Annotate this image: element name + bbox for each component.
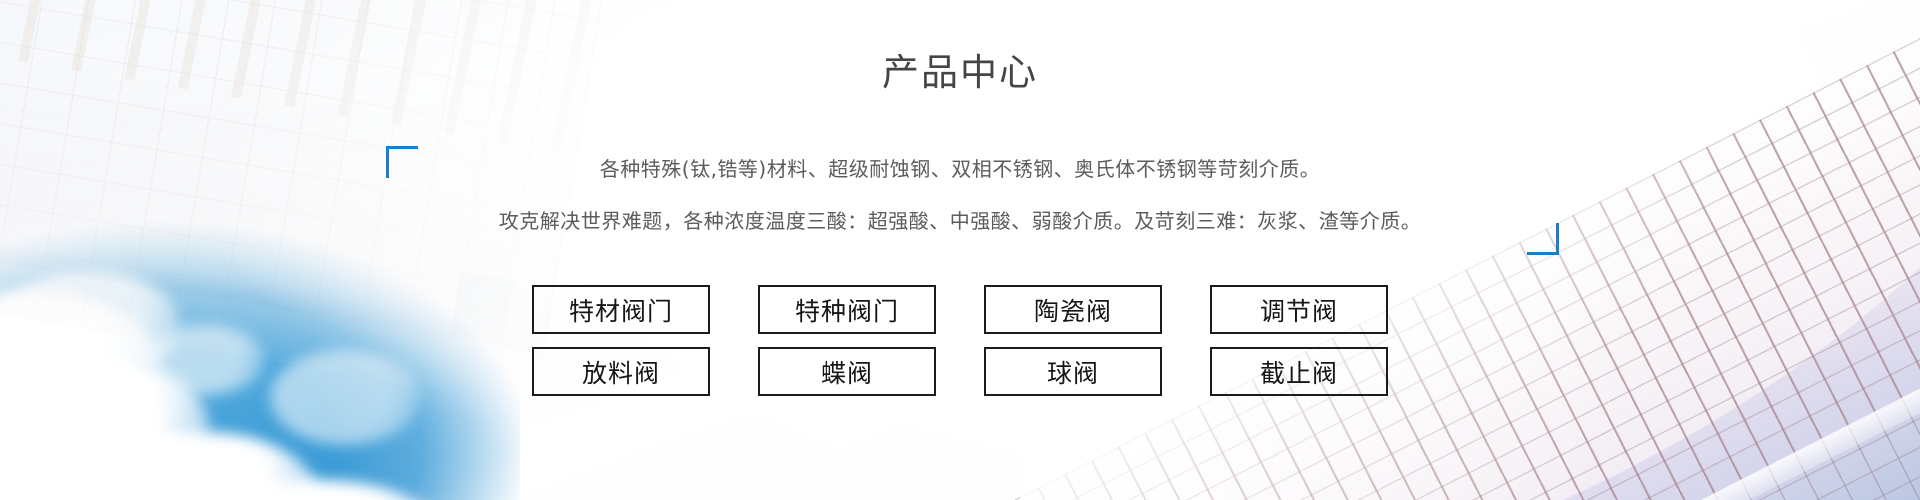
category-tag-grid: 特材阀门 特种阀门 陶瓷阀 调节阀 放料阀 蝶阀 球阀 截止阀 (0, 285, 1920, 396)
category-tag-qiu-fa[interactable]: 球阀 (984, 347, 1162, 396)
category-tag-tiaojie-fa[interactable]: 调节阀 (1210, 285, 1388, 334)
banner-content: 产品中心 各种特殊(钛,锆等)材料、超级耐蚀钢、双相不锈钢、奥氏体不锈钢等苛刻介… (0, 0, 1920, 500)
corner-bracket-top-left-icon (386, 146, 418, 178)
category-tag-row-1: 特材阀门 特种阀门 陶瓷阀 调节阀 (532, 285, 1388, 334)
category-tag-taoci-fa[interactable]: 陶瓷阀 (984, 285, 1162, 334)
description-block: 各种特殊(钛,锆等)材料、超级耐蚀钢、双相不锈钢、奥氏体不锈钢等苛刻介质。 攻克… (0, 143, 1920, 247)
description-line-1: 各种特殊(钛,锆等)材料、超级耐蚀钢、双相不锈钢、奥氏体不锈钢等苛刻介质。 (0, 143, 1920, 195)
description-line-2: 攻克解决世界难题，各种浓度温度三酸：超强酸、中强酸、弱酸介质。及苛刻三难：灰浆、… (0, 195, 1920, 247)
category-tag-row-2: 放料阀 蝶阀 球阀 截止阀 (532, 347, 1388, 396)
category-tag-die-fa[interactable]: 蝶阀 (758, 347, 936, 396)
category-tag-fangliao-fa[interactable]: 放料阀 (532, 347, 710, 396)
category-tag-jiezhi-fa[interactable]: 截止阀 (1210, 347, 1388, 396)
category-tag-tecai-famen[interactable]: 特材阀门 (532, 285, 710, 334)
category-tag-tezhong-famen[interactable]: 特种阀门 (758, 285, 936, 334)
page-title: 产品中心 (0, 50, 1920, 96)
corner-bracket-bottom-right-icon (1527, 223, 1559, 255)
product-center-banner: 产品中心 各种特殊(钛,锆等)材料、超级耐蚀钢、双相不锈钢、奥氏体不锈钢等苛刻介… (0, 0, 1920, 500)
